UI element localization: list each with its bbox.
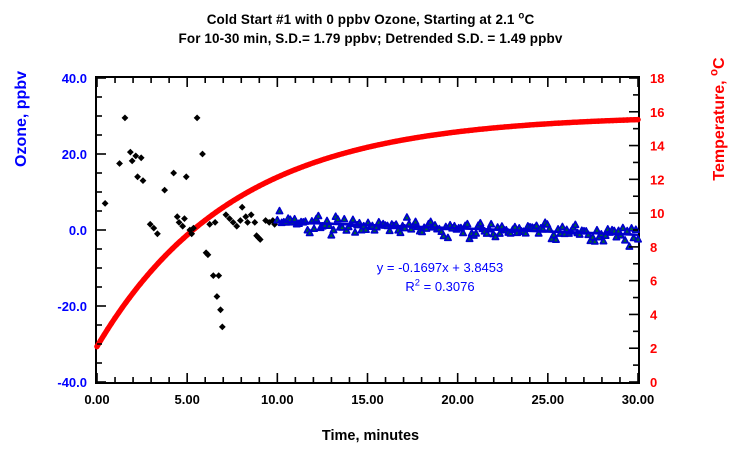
y-tick-label-right: 16	[650, 105, 664, 120]
y-tick-label-left: -20.0	[57, 299, 87, 314]
axes-svg: 0.005.0010.0015.0020.0025.0030.0040.020.…	[0, 0, 741, 462]
y-tick-label-left: 20.0	[62, 147, 87, 162]
x-tick-label: 0.00	[84, 392, 109, 407]
x-tick-label: 5.00	[175, 392, 200, 407]
y-tick-label-left: -40.0	[57, 375, 87, 390]
y-tick-label-right: 8	[650, 240, 657, 255]
x-tick-label: 30.00	[622, 392, 655, 407]
trendline-annotation: y = -0.1697x + 3.8453 R2 = 0.3076	[330, 258, 550, 296]
x-tick-label: 20.00	[441, 392, 474, 407]
x-tick-label: 25.00	[532, 392, 565, 407]
y-tick-label-right: 14	[650, 139, 665, 154]
y-tick-label-right: 4	[650, 307, 658, 322]
y-tick-label-right: 0	[650, 375, 657, 390]
y-tick-label-right: 12	[650, 172, 664, 187]
chart-root: Cold Start #1 with 0 ppbv Ozone, Startin…	[0, 0, 741, 462]
y-tick-label-right: 6	[650, 274, 657, 289]
y-tick-label-right: 2	[650, 341, 657, 356]
x-tick-label: 15.00	[351, 392, 384, 407]
y-tick-label-right: 10	[650, 206, 664, 221]
y-tick-label-left: 40.0	[62, 71, 87, 86]
y-tick-label-left: 0.0	[69, 223, 87, 238]
r-squared-label: R2 = 0.3076	[330, 277, 550, 296]
x-tick-label: 10.00	[261, 392, 294, 407]
trendline-equation: y = -0.1697x + 3.8453	[330, 258, 550, 277]
y-tick-label-right: 18	[650, 71, 664, 86]
